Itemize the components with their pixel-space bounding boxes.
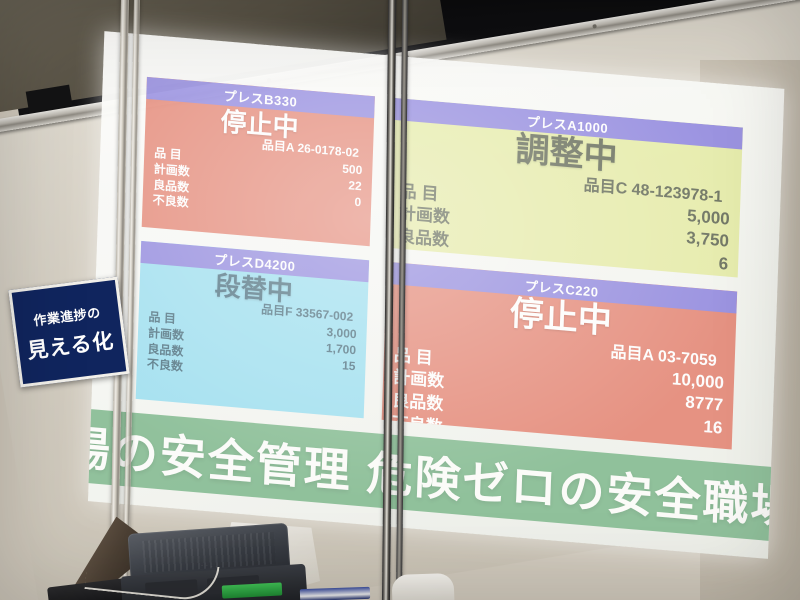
- machine-metric-labels: 品 目 計画数 良品数 不良数: [137, 309, 253, 382]
- machine-metric-labels: 品 目 計画数 良品数 不良数: [388, 179, 565, 277]
- signboard-line-2: 見える化: [17, 323, 124, 366]
- machine-panel-press-c220[interactable]: プレスC220 停止中 品目A 03-7059 品 目 計画数 良品数 不良数 …: [382, 262, 738, 450]
- presentation-slide: プレスB330 停止中 品目A 26-0178-02 品 目 計画数 良品数 不…: [88, 31, 784, 559]
- machine-panel-press-b330[interactable]: プレスB330 停止中 品目A 26-0178-02 品 目 計画数 良品数 不…: [142, 77, 375, 246]
- machine-panel-press-a1000[interactable]: プレスA1000 調整中 品目C 48-123978-1 品 目 計画数 良品数…: [388, 98, 743, 278]
- projection-screen: プレスB330 停止中 品目A 26-0178-02 品 目 計画数 良品数 不…: [88, 31, 785, 569]
- machine-metric-values: 5,000 3,750 6: [562, 194, 740, 277]
- machine-metric-values: 10,000 8777 16: [556, 358, 734, 449]
- blue-marker: [300, 587, 370, 600]
- machine-metric-values: 500 22 0: [256, 155, 372, 228]
- machine-status-grid: プレスB330 停止中 品目A 26-0178-02 品 目 計画数 良品数 不…: [135, 77, 743, 478]
- machine-metric-labels: 品 目 計画数 良品数 不良数: [382, 343, 560, 449]
- conference-room-scene: プレスB330 停止中 品目A 26-0178-02 品 目 計画数 良品数 不…: [0, 0, 800, 600]
- machine-metric-labels: 品 目 計画数 良品数 不良数: [142, 145, 258, 218]
- machine-metric-values: 3,000 1,700 15: [251, 319, 367, 392]
- white-desk-object: [391, 573, 454, 600]
- rail-screw: [592, 24, 597, 29]
- visualization-signboard: 作業進捗の 見える化: [8, 276, 129, 387]
- machine-panel-press-d4200[interactable]: プレスD4200 段替中 品目F 33567-002 品 目 計画数 良品数 不…: [136, 241, 370, 418]
